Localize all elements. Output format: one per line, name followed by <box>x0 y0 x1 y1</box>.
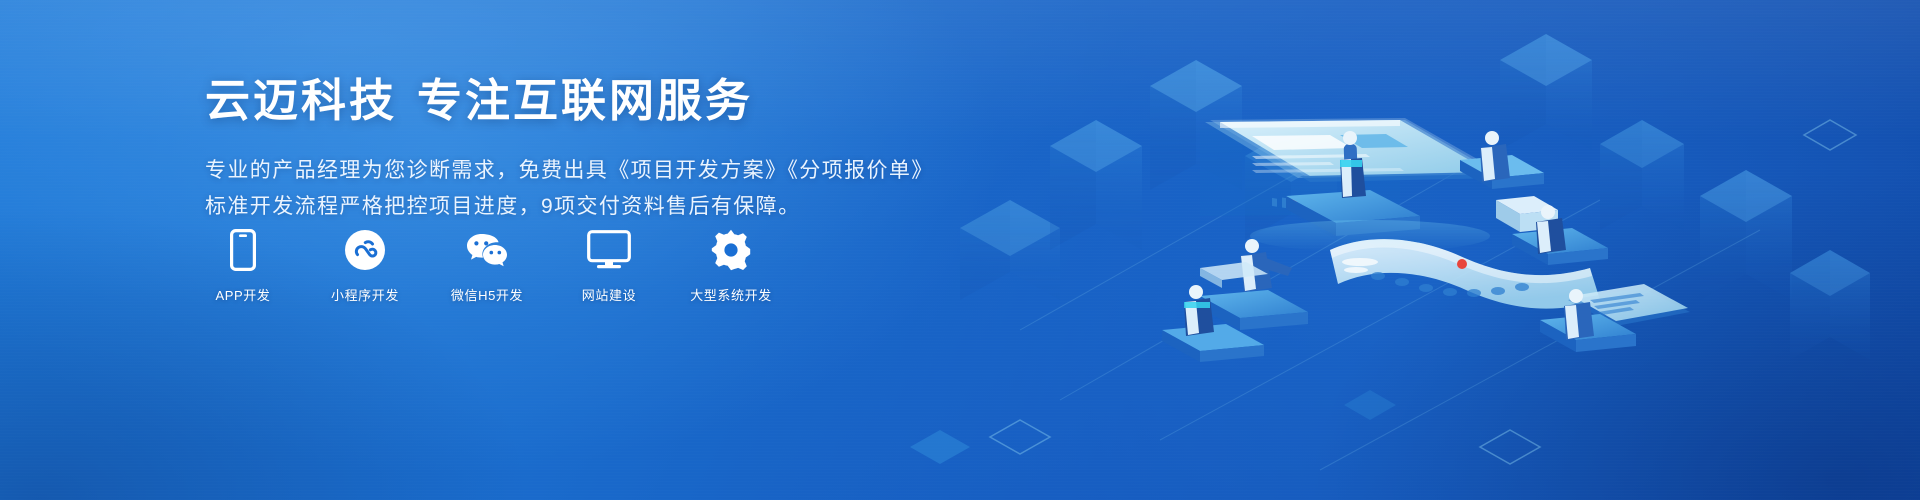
service-item-website[interactable]: 网站建设 <box>571 228 647 304</box>
subtitle-line-1: 专业的产品经理为您诊断需求，免费出具《项目开发方案》《分项报价单》 <box>205 153 965 189</box>
service-item-wechat-h5[interactable]: 微信H5开发 <box>449 228 525 304</box>
service-label: 微信H5开发 <box>451 285 523 304</box>
banner-copy: 云迈科技专注互联网服务 专业的产品经理为您诊断需求，免费出具《项目开发方案》《分… <box>205 74 965 225</box>
service-label: 网站建设 <box>582 285 636 304</box>
service-item-app[interactable]: APP开发 <box>205 228 281 304</box>
service-item-mini-program[interactable]: 小程序开发 <box>327 228 403 304</box>
service-label: APP开发 <box>215 285 270 304</box>
banner-subtitle: 专业的产品经理为您诊断需求，免费出具《项目开发方案》《分项报价单》 标准开发流程… <box>205 153 965 225</box>
service-label: 大型系统开发 <box>690 285 772 304</box>
gear-icon <box>710 228 752 272</box>
banner-headline: 云迈科技专注互联网服务 <box>205 74 965 127</box>
wechat-icon <box>464 228 510 272</box>
headline-tagline: 专注互联网服务 <box>417 75 753 126</box>
service-item-large-system[interactable]: 大型系统开发 <box>693 228 769 304</box>
promo-banner: 云迈科技专注互联网服务 专业的产品经理为您诊断需求，免费出具《项目开发方案》《分… <box>0 0 1920 500</box>
monitor-icon <box>587 228 631 272</box>
isometric-illustration <box>900 0 1920 500</box>
mobile-phone-icon <box>230 228 256 272</box>
mini-program-icon <box>344 228 386 272</box>
headline-brand: 云迈科技 <box>205 75 397 126</box>
service-label: 小程序开发 <box>331 285 399 304</box>
service-list: APP开发 小程序开发 <box>205 228 769 304</box>
subtitle-line-2: 标准开发流程严格把控项目进度，9项交付资料售后有保障。 <box>205 189 965 225</box>
